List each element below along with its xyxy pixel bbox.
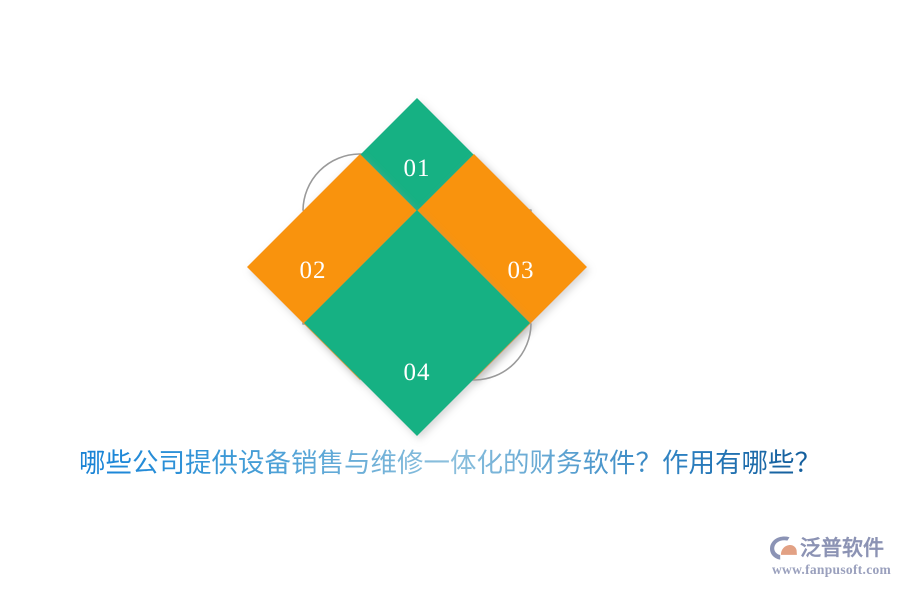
- diagram-graphics: [245, 96, 589, 438]
- watermark-brand-name: 泛普软件: [800, 535, 884, 561]
- fanpu-logo-icon: [768, 534, 798, 561]
- watermark-url: www.fanpusoft.com: [772, 562, 891, 578]
- watermark-logo: 泛普软件 www.fanpusoft.com: [768, 534, 896, 582]
- four-node-diagram: 01 02 03 04: [245, 96, 589, 438]
- watermark-brand-row: 泛普软件: [768, 534, 884, 561]
- page-canvas: 01 02 03 04 哪些公司提供设备销售与维修一体化的财务软件？作用有哪些？…: [0, 0, 900, 600]
- page-title: 哪些公司提供设备销售与维修一体化的财务软件？作用有哪些？: [0, 444, 900, 484]
